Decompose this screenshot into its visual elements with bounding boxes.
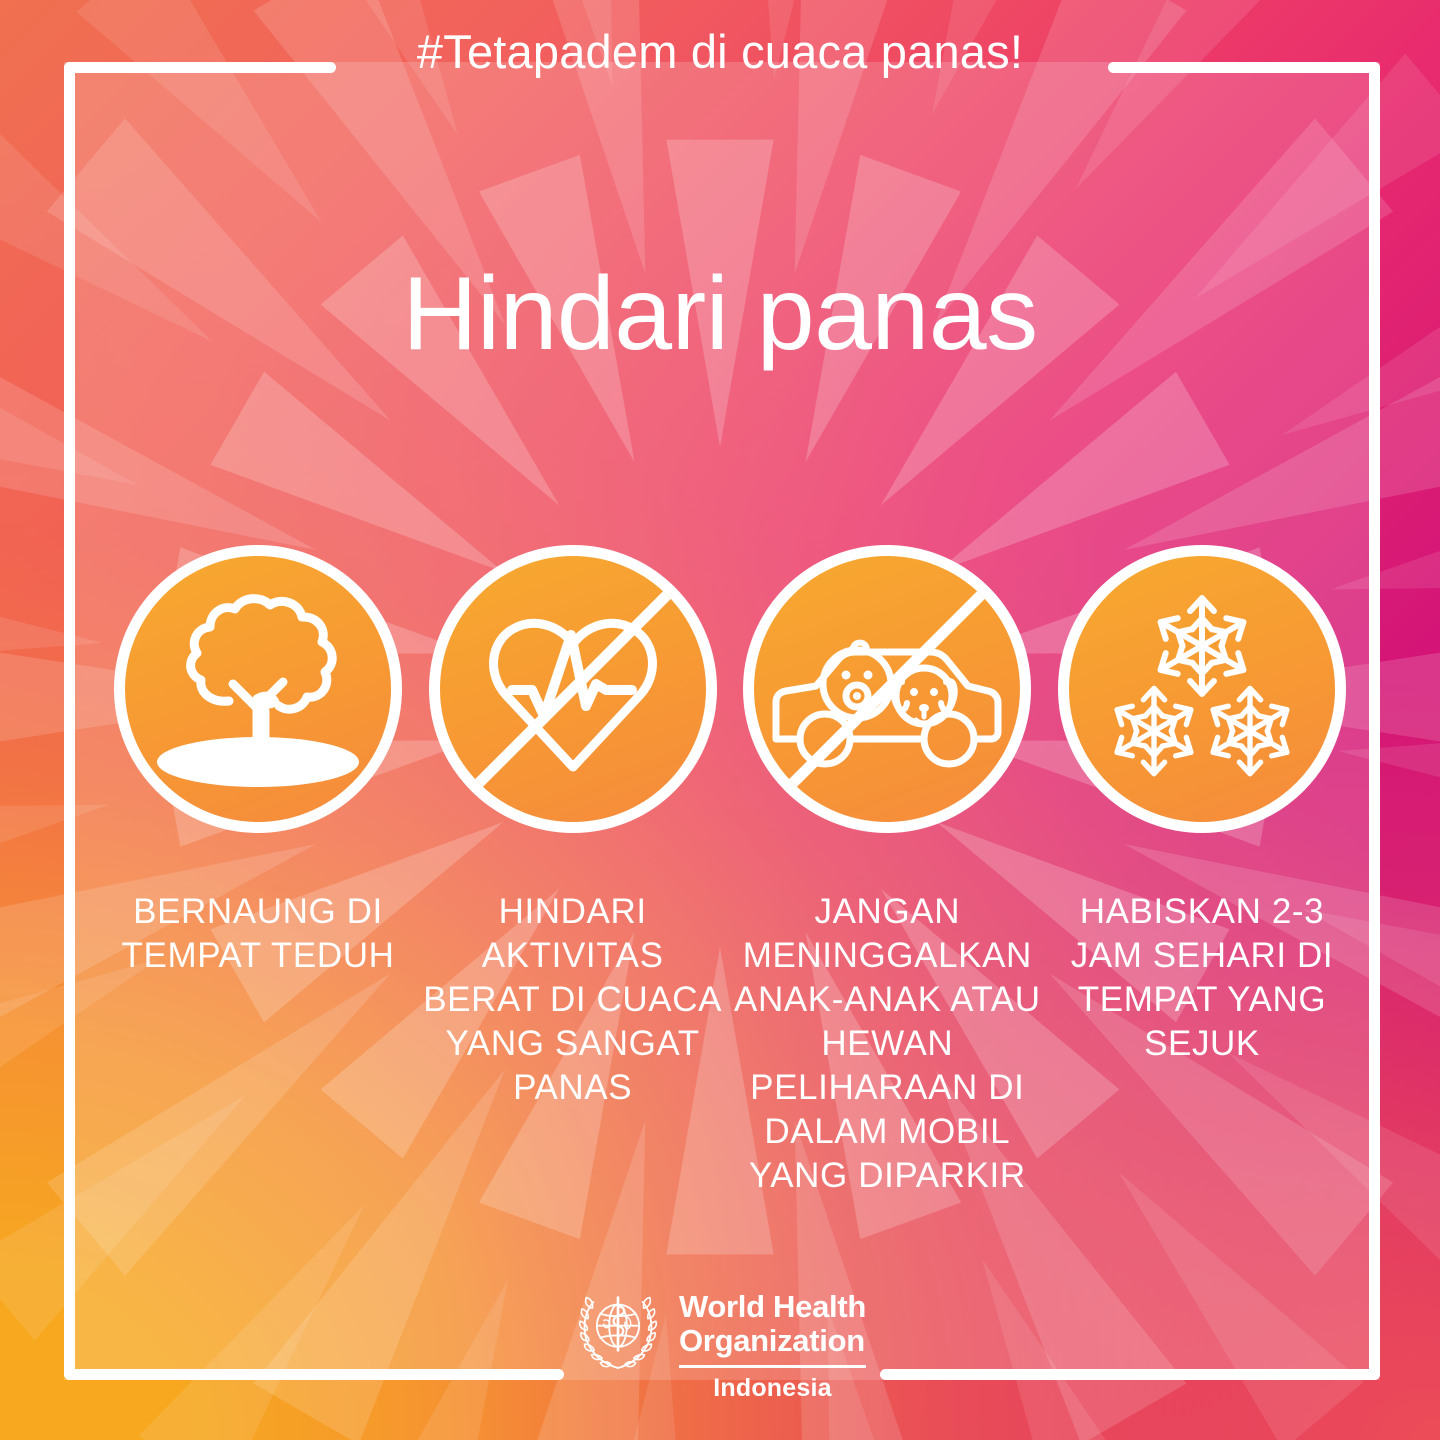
advice-caption: HABISKAN 2-3 JAM SEHARI DI TEMPAT YANG S…	[1052, 890, 1352, 1066]
tree-shade-icon	[114, 545, 402, 833]
advice-caption: BERNAUNG DI TEMPAT TEDUH	[108, 890, 408, 978]
advice-caption: JANGAN MENINGGALKAN ANAK-ANAK ATAU HEWAN…	[728, 890, 1046, 1198]
advice-card-row: BERNAUNG DI TEMPAT TEDUH HINDARI AKTIVIT…	[110, 545, 1350, 1198]
advice-card: JANGAN MENINGGALKAN ANAK-ANAK ATAU HEWAN…	[739, 545, 1035, 1198]
snowflakes-cool-place-icon	[1058, 545, 1346, 833]
who-name-line1: World Health	[679, 1290, 866, 1324]
hashtag-banner: #Tetapadem di cuaca panas!	[0, 24, 1440, 79]
who-emblem-icon	[574, 1287, 662, 1375]
who-wordmark: World Health Organization Indonesia	[679, 1287, 866, 1403]
page-title: Hindari panas	[0, 255, 1440, 374]
advice-card: BERNAUNG DI TEMPAT TEDUH	[110, 545, 406, 978]
no-children-or-pets-in-parked-car-icon	[743, 545, 1031, 833]
advice-card: HABISKAN 2-3 JAM SEHARI DI TEMPAT YANG S…	[1054, 545, 1350, 1066]
frame-bottom-right-segment	[880, 1369, 1380, 1380]
advice-caption: HINDARI AKTIVITAS BERAT DI CUACA YANG SA…	[423, 890, 723, 1110]
who-logo: World Health Organization Indonesia	[574, 1287, 866, 1403]
poster-canvas: #Tetapadem di cuaca panas! Hindari panas	[0, 0, 1440, 1440]
no-strenuous-activity-heart-pulse-icon	[429, 545, 717, 833]
who-country-label: Indonesia	[679, 1374, 866, 1403]
who-name-line2: Organization	[679, 1324, 866, 1358]
who-divider-rule	[679, 1365, 866, 1368]
frame-bottom-left-segment	[64, 1369, 564, 1380]
advice-card: HINDARI AKTIVITAS BERAT DI CUACA YANG SA…	[425, 545, 721, 1110]
